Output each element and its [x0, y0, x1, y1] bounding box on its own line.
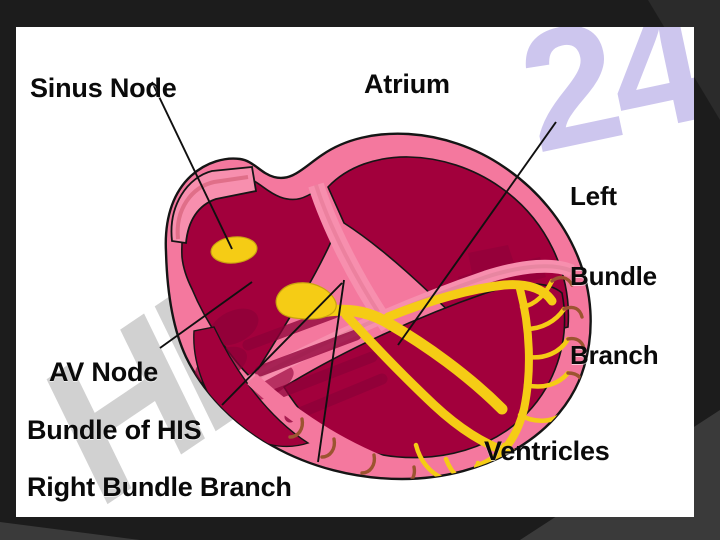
- label-av-node: AV Node: [49, 359, 158, 387]
- label-left-bundle-branch: Left Bundle Branch: [570, 130, 658, 422]
- label-ventricles: Ventricles: [484, 438, 610, 466]
- label-left-bundle-branch-line2: Bundle: [570, 263, 658, 290]
- label-bundle-of-his: Bundle of HIS: [27, 417, 201, 445]
- content-panel: 24 HD: [16, 27, 694, 517]
- label-left-bundle-branch-line3: Branch: [570, 342, 658, 369]
- label-left-bundle-branch-line1: Left: [570, 183, 658, 210]
- label-right-bundle-branch: Right Bundle Branch: [27, 474, 292, 502]
- label-atrium: Atrium: [364, 71, 450, 99]
- label-sinus-node: Sinus Node: [30, 75, 177, 103]
